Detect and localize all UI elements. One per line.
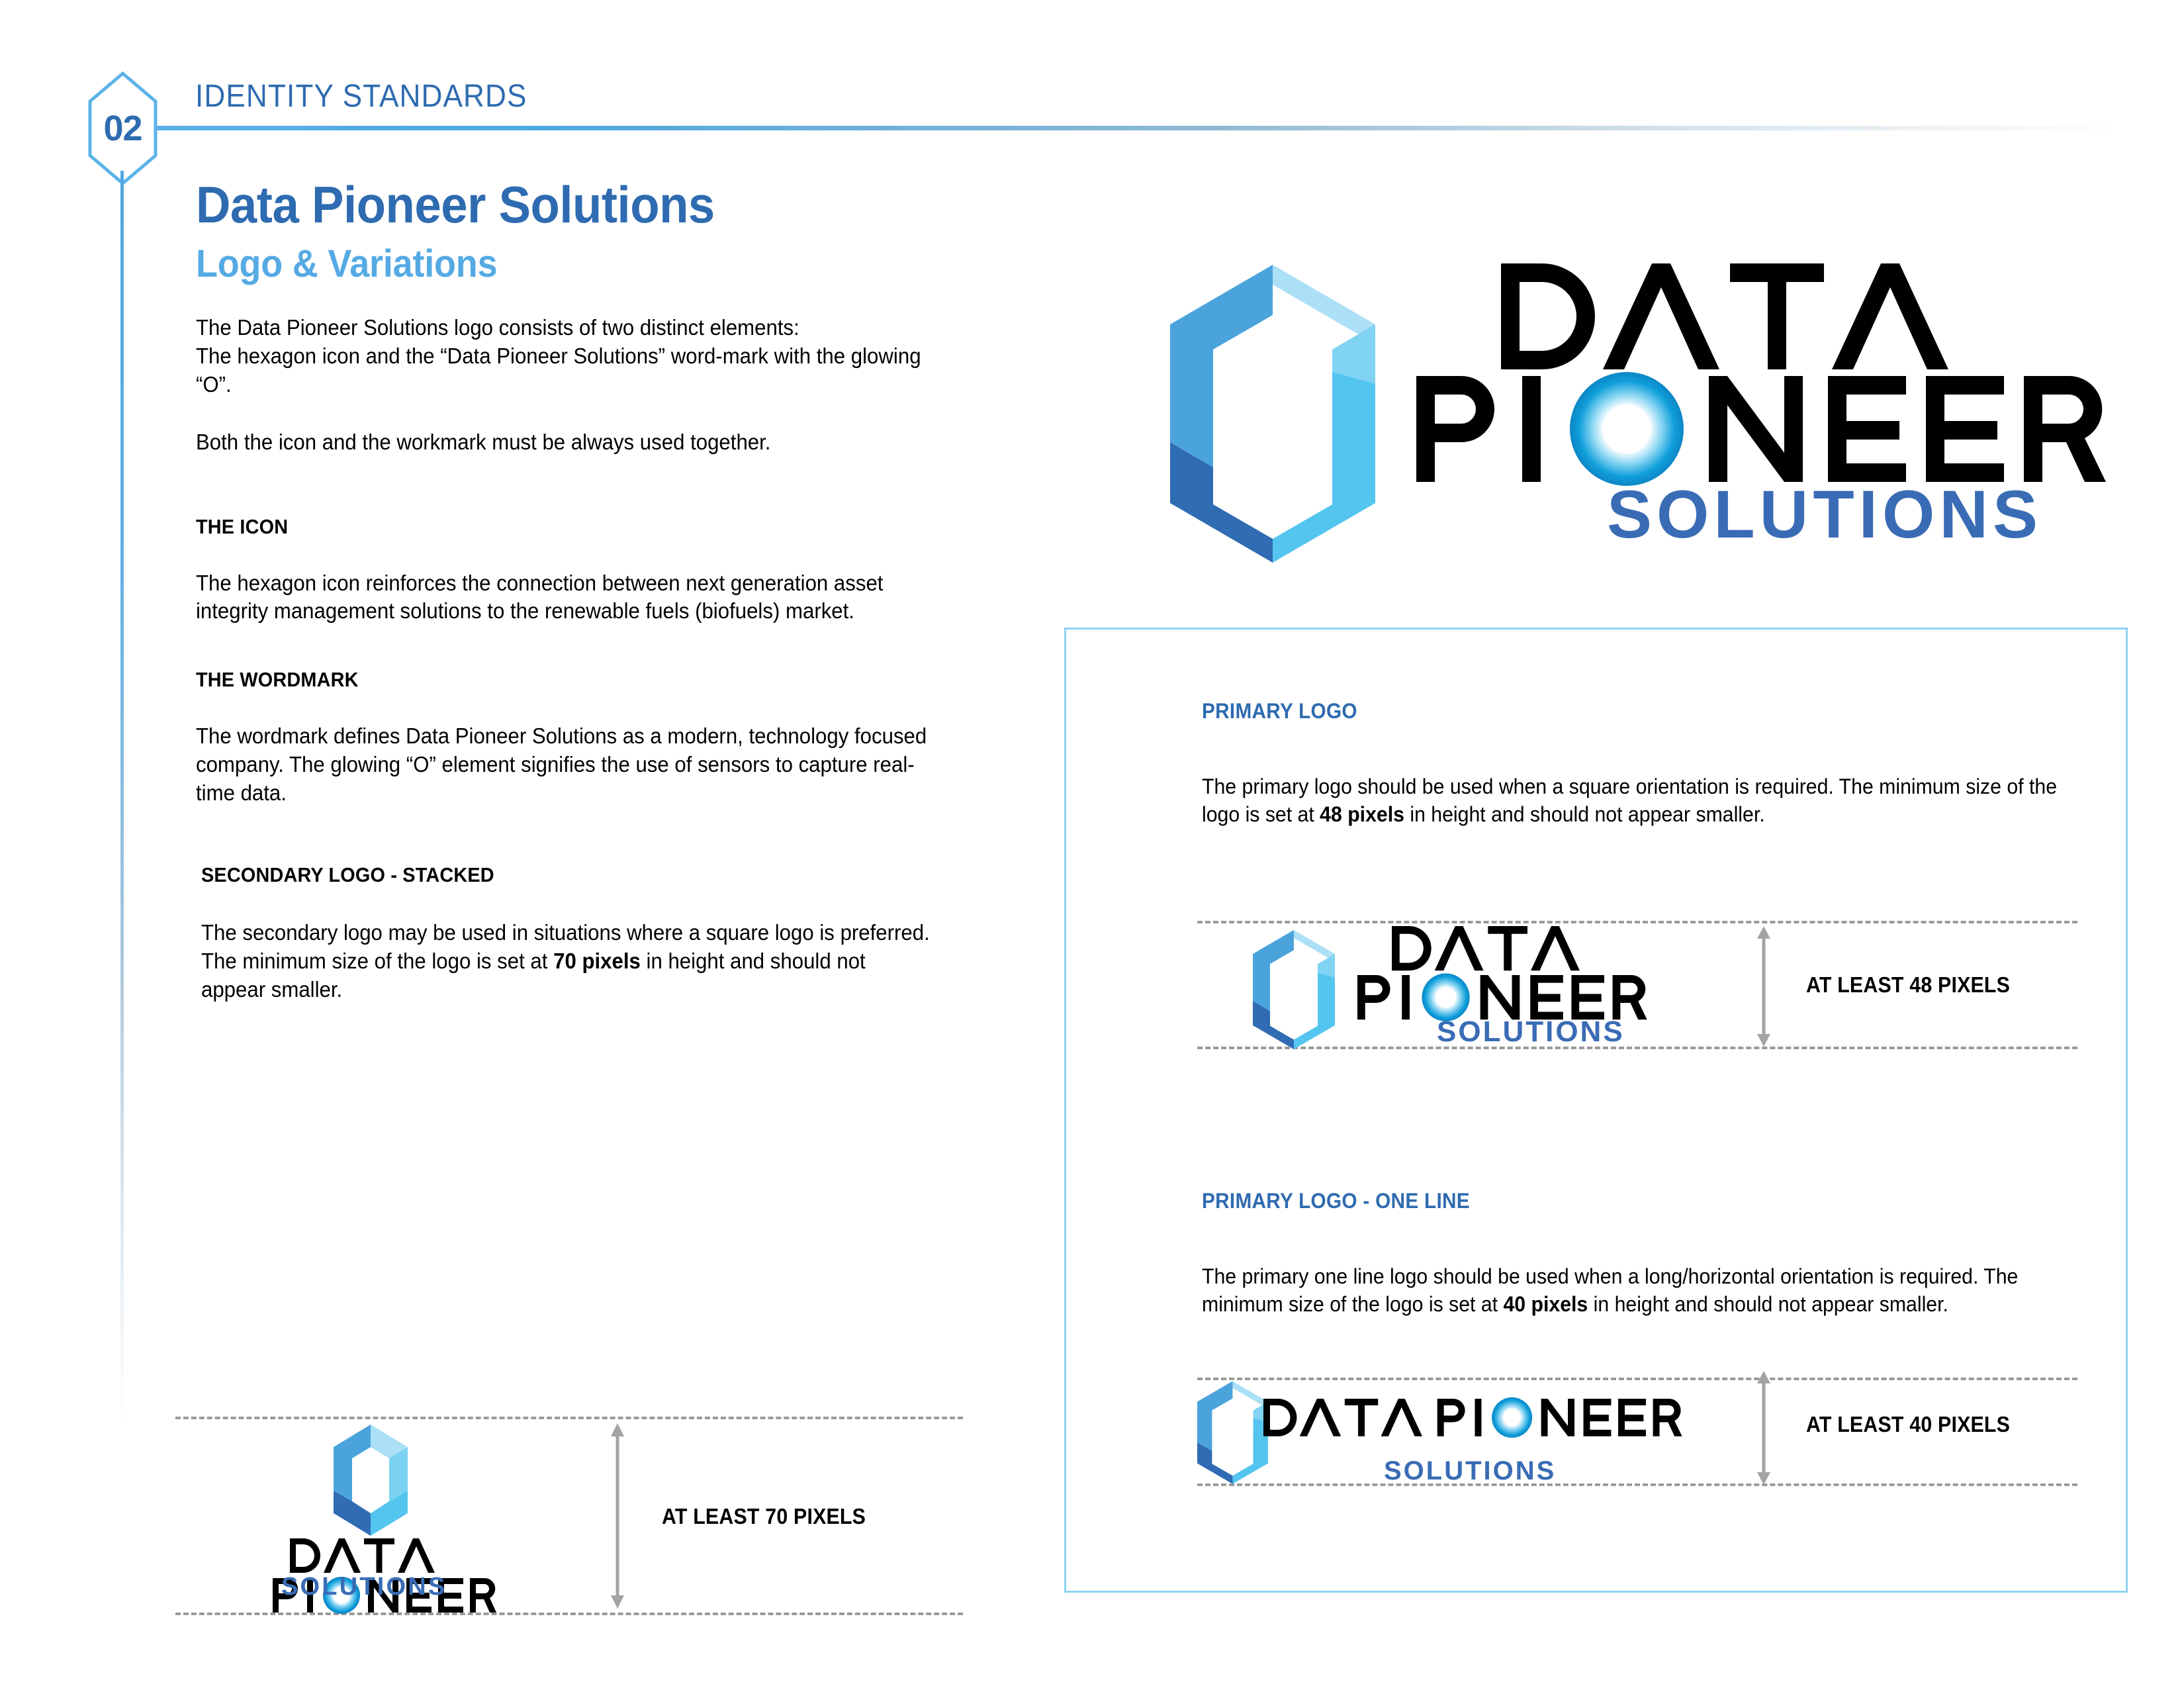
- heading-secondary-logo-stacked: SECONDARY LOGO - STACKED: [201, 863, 923, 887]
- measure-arrow-48: [1754, 926, 1773, 1050]
- guide-line-top: [175, 1417, 963, 1419]
- primary-logo-body: The primary logo should be used when a s…: [1202, 773, 2065, 828]
- left-column: Data Pioneer Solutions Logo & Variations…: [196, 179, 977, 1004]
- measure-label-48px: AT LEAST 48 PIXELS: [1806, 972, 2010, 998]
- guide-line-bottom: [175, 1613, 963, 1615]
- primary-logo-stacked-sample: SOLUTIONS: [1253, 923, 1716, 1049]
- primary-minimum-size: 48 pixels: [1320, 802, 1404, 826]
- measure-arrow-70: [608, 1423, 627, 1612]
- wordmark-pioneer: [1416, 372, 2106, 486]
- intro-paragraph-1: The Data Pioneer Solutions logo consists…: [196, 314, 934, 342]
- section-kicker: IDENTITY STANDARDS: [195, 78, 527, 115]
- measure-label-70px: AT LEAST 70 PIXELS: [662, 1504, 866, 1529]
- heading-primary-logo: PRIMARY LOGO: [1202, 699, 1357, 724]
- secondary-logo-body: The secondary logo may be used in situat…: [201, 919, 934, 1004]
- oneline-logo-body: The primary one line logo should be used…: [1202, 1263, 2065, 1318]
- hexagon-icon: [1170, 265, 1375, 563]
- oneline-body-part-b: in height and should not appear smaller.: [1588, 1292, 1948, 1316]
- page-title: Data Pioneer Solutions: [196, 179, 922, 230]
- both-elements-paragraph: Both the icon and the workmark must be a…: [196, 428, 934, 457]
- brand-guidelines-page: 02 IDENTITY STANDARDS Data Pioneer Solut…: [0, 0, 2184, 1688]
- svg-text:SOLUTIONS: SOLUTIONS: [1437, 1015, 1625, 1048]
- vertical-accent-line: [120, 171, 124, 1429]
- secondary-minimum-size: 70 pixels: [553, 949, 641, 973]
- primary-logo-hero: SOLUTIONS: [1170, 258, 2097, 549]
- svg-text:SOLUTIONS: SOLUTIONS: [1384, 1456, 1556, 1485]
- intro-paragraph-2: The hexagon icon and the “Data Pioneer S…: [196, 342, 934, 399]
- oneline-minimum-size: 40 pixels: [1503, 1292, 1588, 1316]
- secondary-logo-solutions-word: SOLUTIONS: [281, 1572, 460, 1601]
- measure-label-40px: AT LEAST 40 PIXELS: [1806, 1412, 2010, 1437]
- measure-arrow-40: [1754, 1371, 1773, 1488]
- svg-text:SOLUTIONS: SOLUTIONS: [281, 1573, 447, 1601]
- page-number: 02: [88, 71, 158, 185]
- page-subtitle: Logo & Variations: [196, 245, 922, 283]
- header-rule: [99, 126, 2124, 130]
- wordmark-solutions: SOLUTIONS: [1607, 477, 2042, 552]
- heading-primary-logo-one-line: PRIMARY LOGO - ONE LINE: [1202, 1189, 1470, 1213]
- the-icon-body: The hexagon icon reinforces the connecti…: [196, 569, 934, 626]
- primary-body-part-b: in height and should not appear smaller.: [1404, 802, 1765, 826]
- heading-the-icon: THE ICON: [196, 515, 922, 539]
- wordmark-data: [1501, 263, 1948, 369]
- primary-logo-one-line-sample: SOLUTIONS: [1192, 1376, 1735, 1489]
- the-wordmark-body: The wordmark defines Data Pioneer Soluti…: [196, 722, 934, 808]
- logo-usage-panel: PRIMARY LOGO The primary logo should be …: [1064, 628, 2128, 1593]
- heading-the-wordmark: THE WORDMARK: [196, 668, 922, 692]
